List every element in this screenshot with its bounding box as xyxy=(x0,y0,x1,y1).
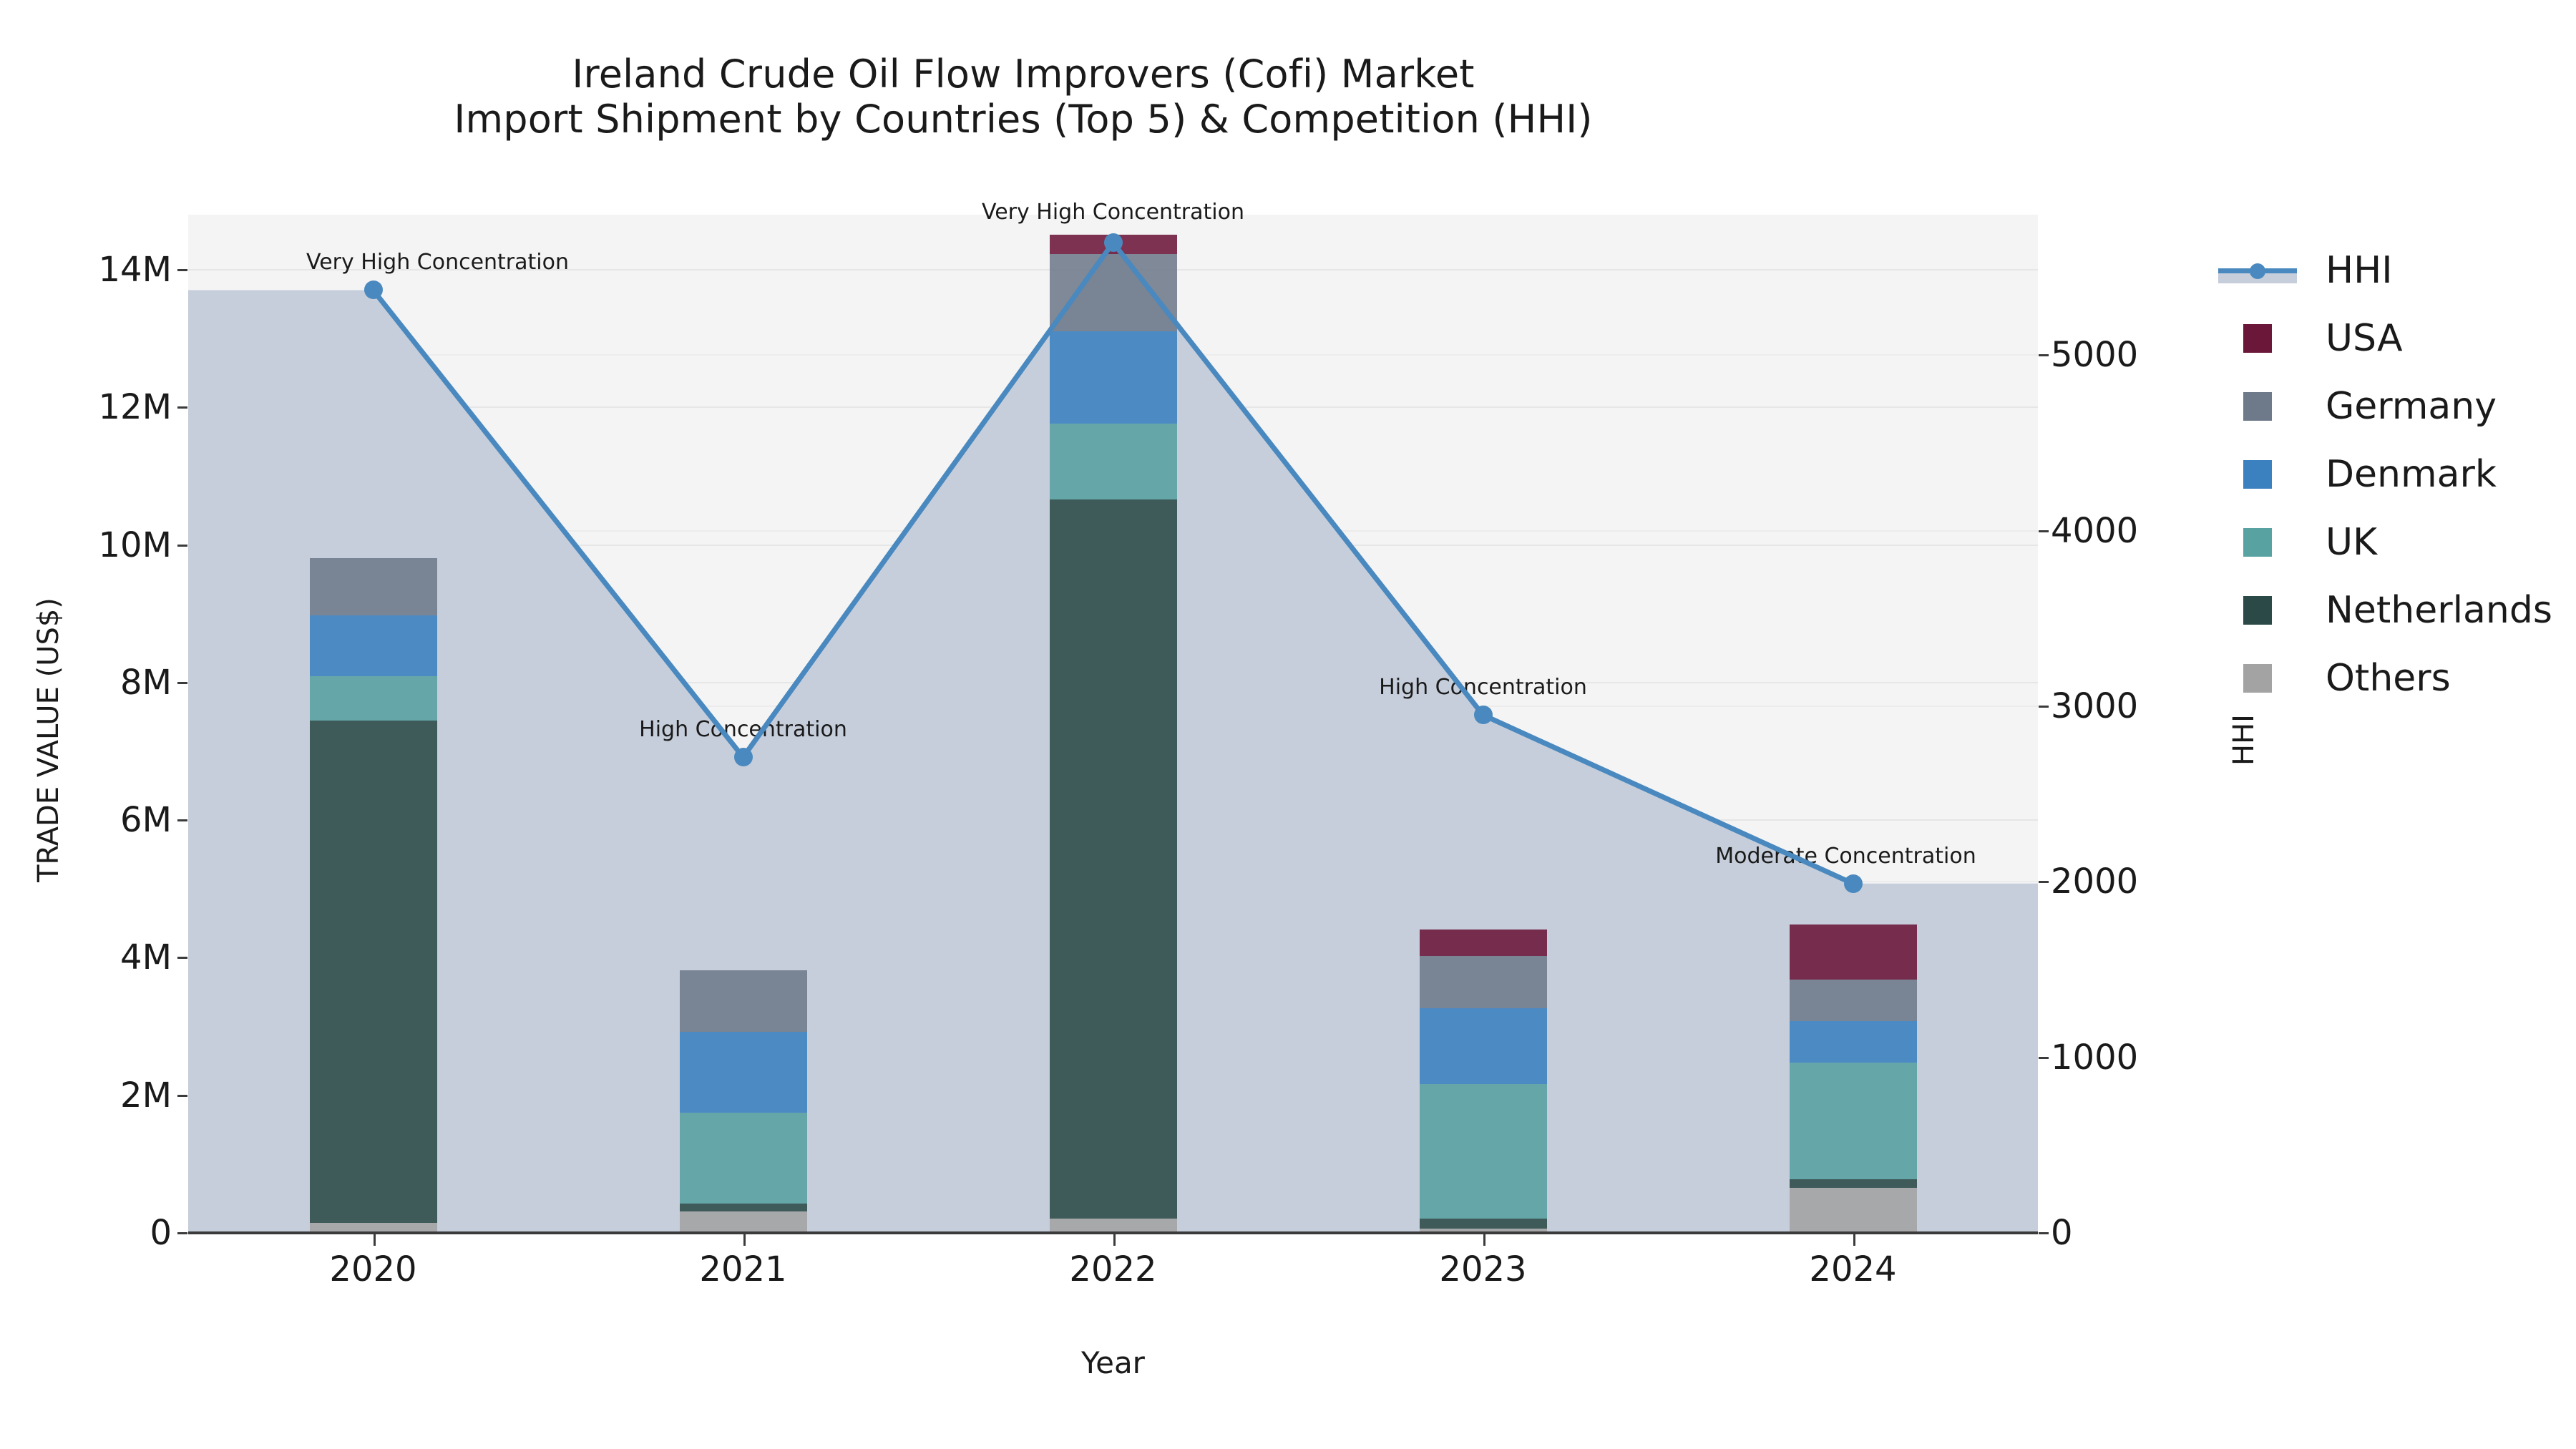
bar-segment[interactable] xyxy=(680,1113,807,1204)
y-axis-left-tick-label: 12M xyxy=(0,387,172,427)
bar-segment[interactable] xyxy=(1050,499,1177,1219)
title-line-2: Import Shipment by Countries (Top 5) & C… xyxy=(0,97,2046,142)
bar-segment[interactable] xyxy=(1790,1021,1917,1063)
y-axis-left-tick-mark xyxy=(177,545,187,547)
bar-segment[interactable] xyxy=(1050,1219,1177,1233)
y-axis-right-tick-mark xyxy=(2039,881,2049,883)
bar-segment[interactable] xyxy=(310,558,437,615)
chart-root: Ireland Crude Oil Flow Improvers (Cofi) … xyxy=(0,0,2576,1449)
hhi-annotation: High Concentration xyxy=(639,717,847,742)
hhi-marker[interactable] xyxy=(1844,874,1863,893)
legend-label: USA xyxy=(2326,317,2403,360)
y-axis-right-tick-label: 4000 xyxy=(2051,511,2215,551)
legend-item[interactable]: Denmark xyxy=(2218,440,2552,508)
legend-swatch xyxy=(2243,324,2272,353)
y-axis-left-tick-mark xyxy=(177,406,187,409)
legend-swatch xyxy=(2243,664,2272,693)
hhi-annotation: Very High Concentration xyxy=(306,250,569,275)
x-tick-mark xyxy=(374,1234,376,1246)
x-tick-label: 2024 xyxy=(1809,1249,1896,1289)
y-axis-left-tick-label: 2M xyxy=(0,1075,172,1116)
bar-segment[interactable] xyxy=(310,721,437,1223)
x-axis-label: Year xyxy=(188,1345,2038,1380)
legend-item[interactable]: Others xyxy=(2218,644,2552,712)
bar-segment[interactable] xyxy=(1420,930,1547,956)
y-axis-left-tick-mark xyxy=(177,1232,187,1234)
legend-label: HHI xyxy=(2326,249,2393,292)
bar-segment[interactable] xyxy=(1420,1008,1547,1085)
legend-swatch xyxy=(2243,392,2272,421)
bar-segment[interactable] xyxy=(1790,1063,1917,1179)
legend-item[interactable]: USA xyxy=(2218,304,2552,372)
legend-swatch xyxy=(2243,460,2272,489)
y-axis-left-tick-mark xyxy=(177,957,187,959)
x-tick-label: 2022 xyxy=(1069,1249,1156,1289)
y-axis-right-tick-label: 1000 xyxy=(2051,1038,2215,1078)
hhi-marker[interactable] xyxy=(1104,233,1123,252)
y-axis-right-tick-mark xyxy=(2039,706,2049,708)
y-axis-right-tick-label: 0 xyxy=(2051,1213,2215,1253)
y-axis-left-tick-mark xyxy=(177,819,187,821)
y-axis-left-tick-label: 14M xyxy=(0,250,172,290)
y-axis-left-tick-label: 6M xyxy=(0,800,172,840)
y-axis-left-label: TRADE VALUE (US$) xyxy=(32,489,65,990)
legend-label: Germany xyxy=(2326,385,2497,428)
legend-line-marker xyxy=(2218,256,2297,285)
bar-segment[interactable] xyxy=(1790,1188,1917,1233)
legend-label: Netherlands xyxy=(2326,589,2552,632)
bar-segment[interactable] xyxy=(680,1032,807,1112)
bar-group[interactable] xyxy=(310,215,437,1233)
x-tick-label: 2020 xyxy=(329,1249,416,1289)
bar-group[interactable] xyxy=(1790,215,1917,1233)
y-axis-right-tick-label: 2000 xyxy=(2051,862,2215,902)
x-tick-mark xyxy=(1853,1234,1855,1246)
bar-segment[interactable] xyxy=(1050,331,1177,424)
y-axis-left-tick-mark xyxy=(177,682,187,684)
y-axis-right-tick-mark xyxy=(2039,1057,2049,1059)
y-axis-right-tick-label: 3000 xyxy=(2051,686,2215,726)
hhi-annotation: Very High Concentration xyxy=(982,200,1244,225)
bar-group[interactable] xyxy=(1050,215,1177,1233)
legend: HHIUSAGermanyDenmarkUKNetherlandsOthers xyxy=(2218,236,2552,712)
legend-swatch xyxy=(2243,528,2272,557)
bar-segment[interactable] xyxy=(680,1211,807,1233)
hhi-marker[interactable] xyxy=(364,280,383,299)
legend-item[interactable]: HHI xyxy=(2218,236,2552,304)
y-axis-left-tick-label: 8M xyxy=(0,663,172,703)
hhi-marker[interactable] xyxy=(734,748,753,766)
bar-segment[interactable] xyxy=(310,615,437,677)
bar-segment[interactable] xyxy=(1050,254,1177,331)
hhi-annotation: High Concentration xyxy=(1379,675,1587,700)
plot-area: Very High ConcentrationHigh Concentratio… xyxy=(188,215,2038,1233)
y-axis-right-tick-mark xyxy=(2039,530,2049,532)
legend-label: UK xyxy=(2326,521,2377,564)
page-title: Ireland Crude Oil Flow Improvers (Cofi) … xyxy=(0,52,2046,142)
bar-segment[interactable] xyxy=(1790,924,1917,980)
y-axis-left-tick-mark xyxy=(177,269,187,271)
bar-segment[interactable] xyxy=(1420,1084,1547,1218)
y-axis-right-tick-mark xyxy=(2039,354,2049,356)
bar-segment[interactable] xyxy=(310,676,437,721)
legend-item[interactable]: Netherlands xyxy=(2218,576,2552,644)
bar-segment[interactable] xyxy=(680,1204,807,1212)
legend-swatch xyxy=(2243,596,2272,625)
bar-segment[interactable] xyxy=(1420,956,1547,1008)
bar-segment[interactable] xyxy=(1790,980,1917,1021)
legend-item[interactable]: UK xyxy=(2218,508,2552,576)
y-axis-left-tick-mark xyxy=(177,1095,187,1097)
x-tick-label: 2023 xyxy=(1439,1249,1526,1289)
y-axis-left-tick-label: 10M xyxy=(0,525,172,565)
bar-segment[interactable] xyxy=(1420,1219,1547,1229)
x-tick-mark xyxy=(1113,1234,1116,1246)
y-axis-left-tick-label: 4M xyxy=(0,937,172,977)
plot-clip xyxy=(188,215,2038,1233)
y-axis-right-tick-label: 5000 xyxy=(2051,335,2215,375)
legend-label: Others xyxy=(2326,657,2451,700)
x-tick-label: 2021 xyxy=(699,1249,786,1289)
bar-segment[interactable] xyxy=(680,970,807,1033)
legend-item[interactable]: Germany xyxy=(2218,372,2552,440)
bar-segment[interactable] xyxy=(1790,1179,1917,1188)
x-tick-mark xyxy=(743,1234,746,1246)
x-tick-mark xyxy=(1483,1234,1485,1246)
legend-label: Denmark xyxy=(2326,453,2497,496)
title-line-1: Ireland Crude Oil Flow Improvers (Cofi) … xyxy=(0,52,2046,97)
bar-segment[interactable] xyxy=(1050,424,1177,499)
y-axis-left-tick-label: 0 xyxy=(0,1213,172,1253)
hhi-marker[interactable] xyxy=(1474,706,1493,724)
hhi-annotation: Moderate Concentration xyxy=(1715,844,1976,869)
y-axis-right-tick-mark xyxy=(2039,1232,2049,1234)
